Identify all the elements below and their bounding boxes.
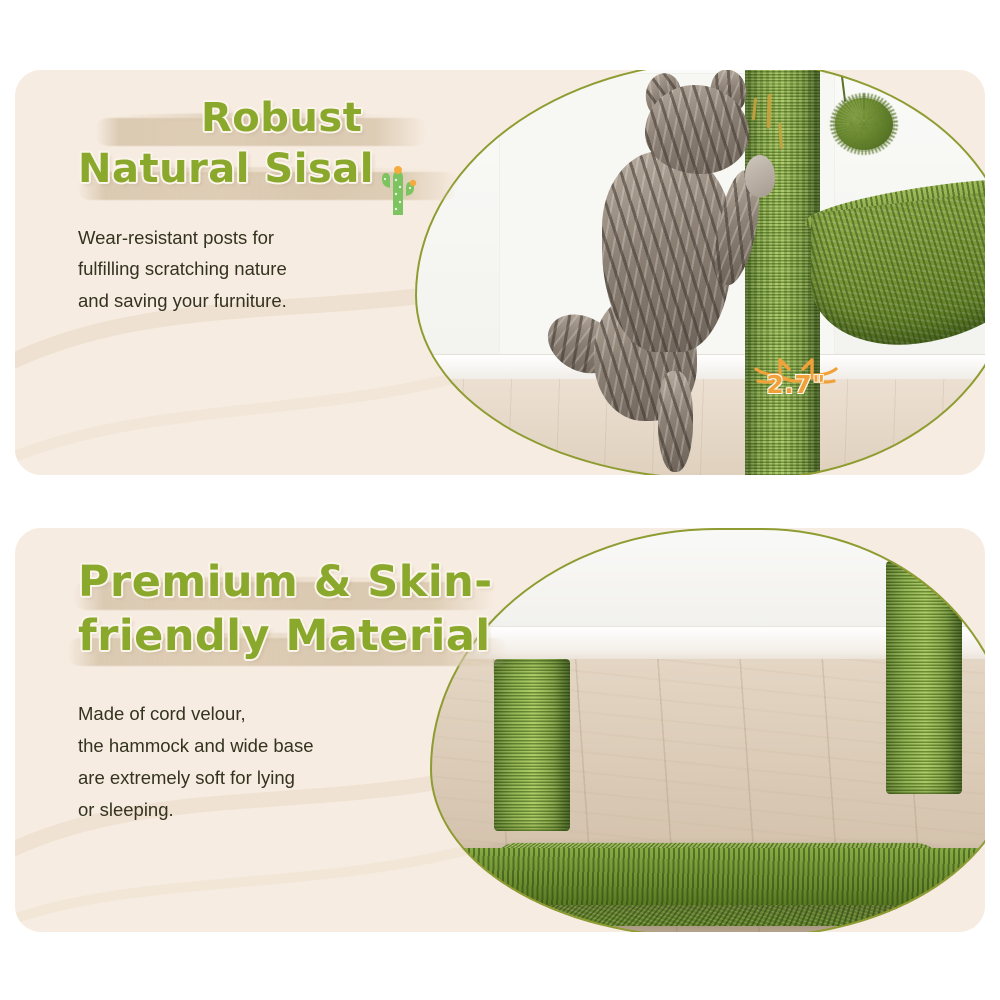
body-line: are extremely soft for lying bbox=[78, 762, 538, 794]
size-badge-2-7-inch: 2.7" bbox=[750, 348, 842, 408]
cat-body bbox=[602, 151, 732, 352]
panel-2-headline: Premium & Skin- friendly Material bbox=[78, 558, 538, 660]
feature-photo-cat-scratching-post bbox=[415, 70, 985, 475]
panel-2-text-block: Premium & Skin- friendly Material Made o… bbox=[78, 558, 538, 826]
cat bbox=[559, 85, 775, 471]
cat-paw bbox=[745, 155, 775, 198]
panel-1-body-text: Wear-resistant posts for fulfilling scra… bbox=[78, 222, 478, 317]
product-feature-page: 2.7" Robust bbox=[0, 0, 1000, 1000]
photo-clip-blob bbox=[415, 70, 985, 475]
body-line: or sleeping. bbox=[78, 794, 538, 826]
panel-2-title-line-2: friendly Material bbox=[78, 612, 538, 660]
body-line: fulfilling scratching nature bbox=[78, 253, 478, 285]
feature-panel-robust-natural-sisal: 2.7" Robust bbox=[15, 70, 985, 475]
body-line: Made of cord velour, bbox=[78, 698, 538, 730]
body-line: Wear-resistant posts for bbox=[78, 222, 478, 254]
panel-2-title-line-1: Premium & Skin- bbox=[78, 558, 538, 606]
cactus-icon bbox=[373, 158, 419, 216]
photo-scene bbox=[415, 70, 985, 475]
feature-panel-premium-skin-friendly-material: Premium & Skin- friendly Material Made o… bbox=[15, 528, 985, 932]
panel-2-body-text: Made of cord velour, the hammock and wid… bbox=[78, 698, 538, 825]
body-line: and saving your furniture. bbox=[78, 285, 478, 317]
pompom-ball-toy bbox=[835, 98, 893, 150]
base-mat-front-edge bbox=[448, 848, 985, 905]
panel-1-title-line-1: Robust bbox=[201, 96, 478, 141]
cat-back-leg bbox=[658, 371, 693, 471]
sisal-post-right bbox=[886, 561, 962, 795]
badge-value: 2.7" bbox=[750, 370, 842, 399]
body-line: the hammock and wide base bbox=[78, 730, 538, 762]
